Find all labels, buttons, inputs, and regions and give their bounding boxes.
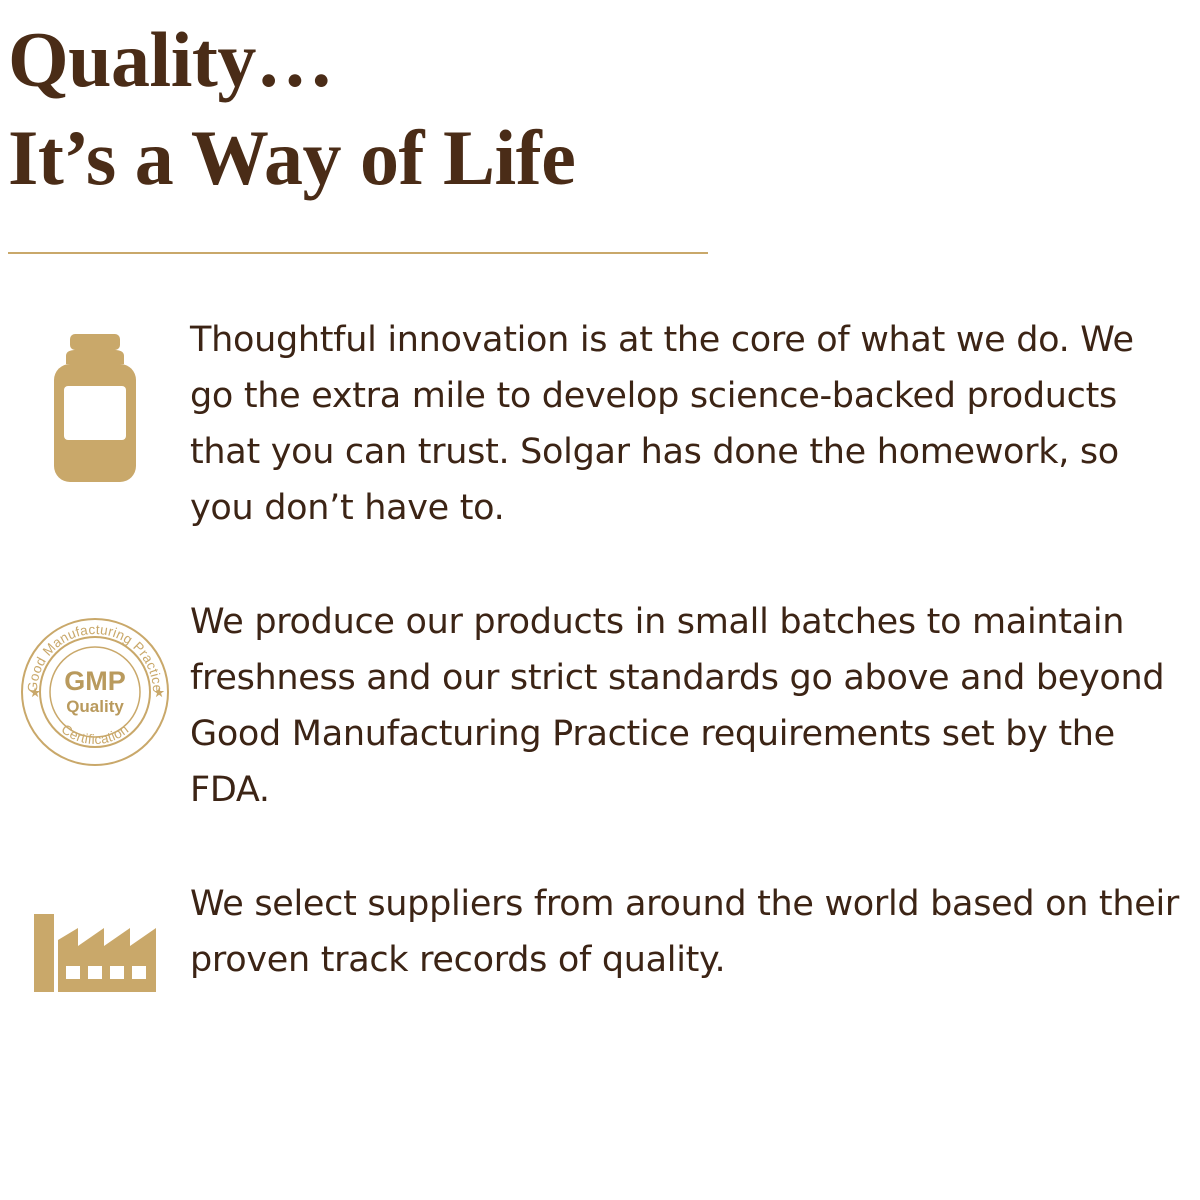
factory-icon — [0, 876, 190, 1004]
list-item-text: Thoughtful innovation is at the core of … — [190, 312, 1180, 536]
svg-text:Certification: Certification — [59, 721, 132, 747]
list-item-text: We produce our products in small batches… — [190, 594, 1180, 818]
title-divider — [8, 252, 708, 254]
svg-text:★: ★ — [29, 685, 41, 700]
page-title-line-2: It’s a Way of Life — [8, 112, 1200, 204]
list-item: We select suppliers from around the worl… — [0, 876, 1200, 1004]
gmp-quality-seal-icon: Good Manufacturing Practice Certificatio… — [0, 594, 190, 772]
page-title: Quality… It’s a Way of Life — [0, 0, 1200, 204]
list-item: Good Manufacturing Practice Certificatio… — [0, 594, 1200, 818]
list-item-text: We select suppliers from around the worl… — [190, 876, 1180, 988]
svg-text:Quality: Quality — [66, 697, 124, 716]
svg-text:★: ★ — [153, 685, 165, 700]
feature-list: Thoughtful innovation is at the core of … — [0, 312, 1200, 1004]
supplement-bottle-icon — [0, 312, 190, 499]
list-item: Thoughtful innovation is at the core of … — [0, 312, 1200, 536]
quality-page: Quality… It’s a Way of Life Thoughtful i… — [0, 0, 1200, 1200]
page-title-line-1: Quality… — [8, 14, 1200, 106]
svg-text:GMP: GMP — [64, 666, 126, 696]
